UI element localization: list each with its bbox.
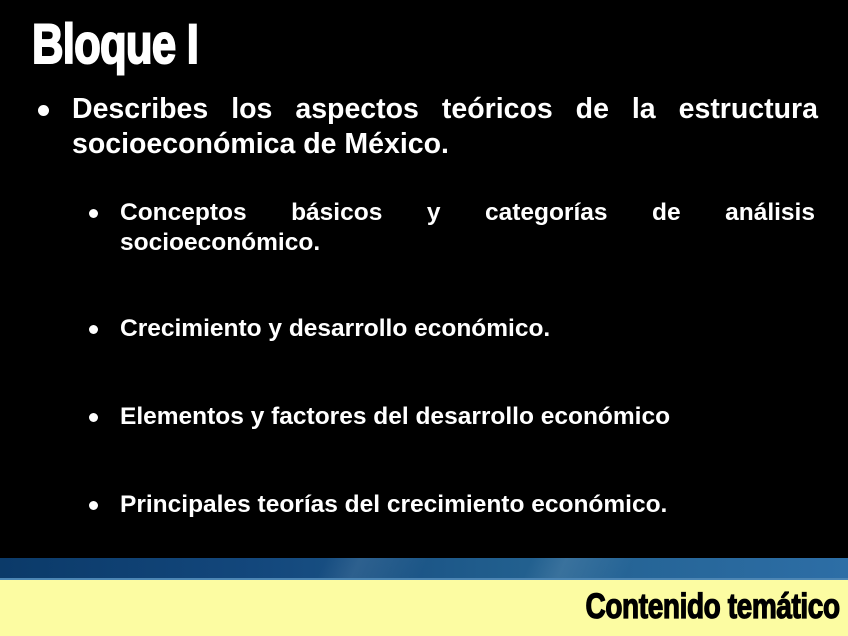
list-item-sub-4-label: Principales teorías del crecimiento econ…	[120, 491, 667, 518]
list-item-sub-1: Conceptos básicos y categorías de anális…	[0, 198, 848, 258]
bullet-dot-icon	[89, 209, 98, 218]
bullet-dot-icon	[38, 105, 49, 116]
list-item-sub-2-label: Crecimiento y desarrollo económico.	[120, 315, 550, 342]
list-item-sub-3: Elementos y factores del desarrollo econ…	[0, 402, 848, 432]
list-item-sub-3-label: Elementos y factores del desarrollo econ…	[120, 403, 670, 430]
content-list: Describes los aspectos teóricos de la es…	[0, 92, 848, 520]
list-item-sub-2: Crecimiento y desarrollo económico.	[0, 314, 848, 344]
list-item-sub-1-label: Conceptos básicos y categorías de anális…	[120, 199, 815, 256]
list-item-main: Describes los aspectos teóricos de la es…	[0, 92, 848, 162]
bullet-dot-icon	[89, 325, 98, 334]
bullet-dot-icon	[89, 413, 98, 422]
footer-label: Contenido temático	[586, 586, 840, 628]
bullet-dot-icon	[89, 501, 98, 510]
footer-blue-band	[0, 558, 848, 580]
slide-canvas: Bloque I Describes los aspectos teóricos…	[0, 0, 848, 636]
page-title: Bloque I	[32, 14, 198, 74]
list-item-main-label: Describes los aspectos teóricos de la es…	[72, 93, 818, 160]
list-item-sub-4: Principales teorías del crecimiento econ…	[0, 490, 848, 520]
